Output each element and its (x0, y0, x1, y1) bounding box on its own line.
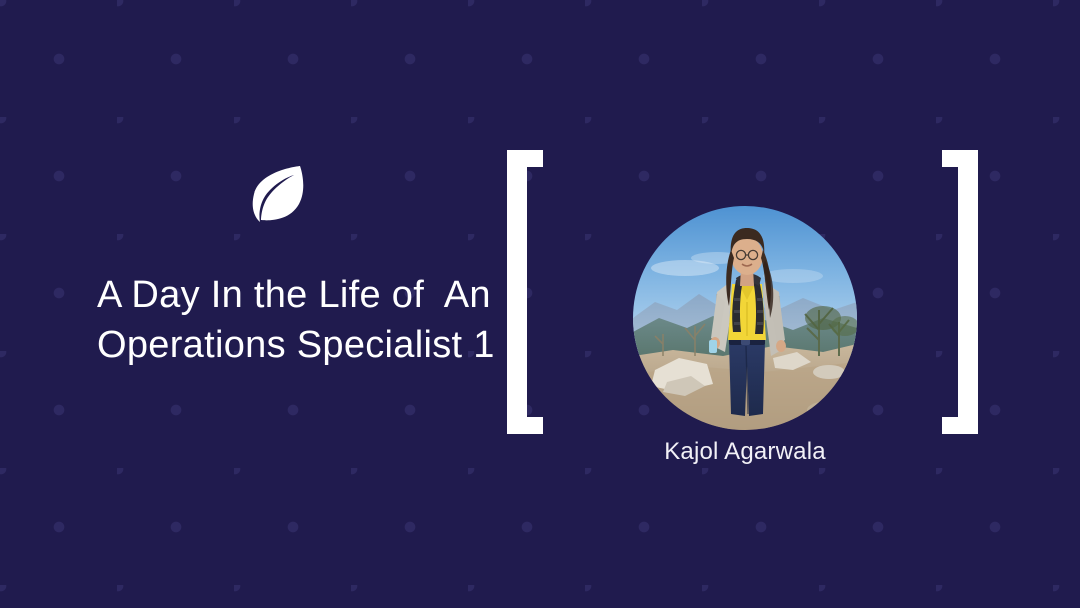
title-line-1: A Day In the Life of An (97, 270, 497, 320)
page-title: A Day In the Life of An Operations Speci… (97, 270, 497, 370)
leaf-icon (250, 164, 308, 224)
right-bracket-decoration (942, 150, 978, 434)
left-bracket-decoration (507, 150, 543, 434)
speaker-avatar (633, 206, 857, 430)
title-line-2: Operations Specialist 1 (97, 320, 497, 370)
speaker-name: Kajol Agarwala (633, 438, 857, 466)
presentation-slide: A Day In the Life of An Operations Speci… (0, 0, 1080, 608)
